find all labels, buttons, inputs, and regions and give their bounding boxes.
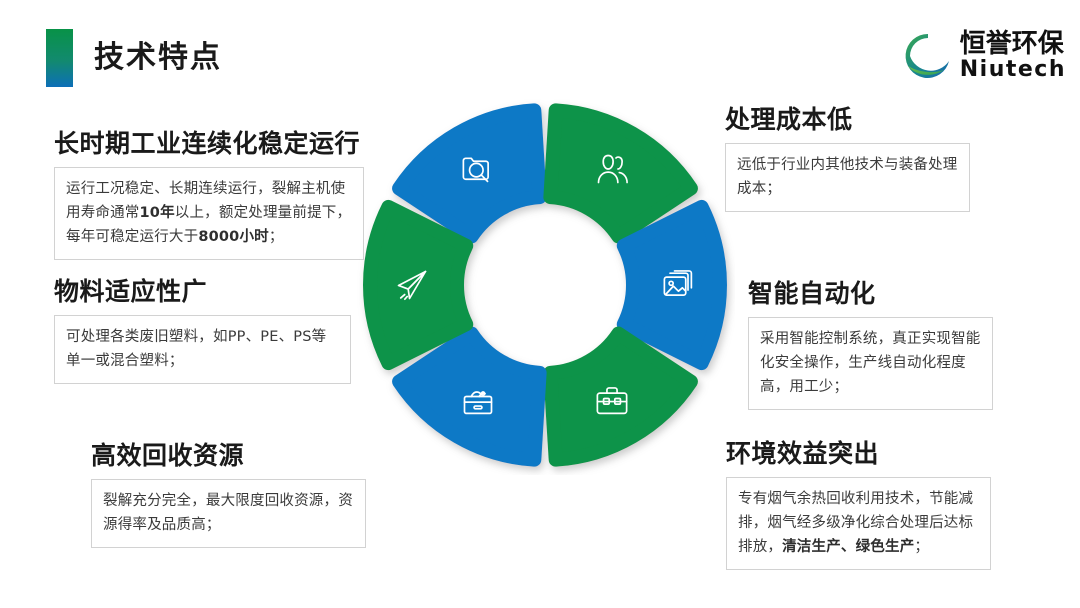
feature-low-processing-cost: 处理成本低 远低于行业内其他技术与装备处理成本； [725,104,970,212]
feature-body: 可处理各类废旧塑料，如PP、PE、PS等单一或混合塑料； [54,315,351,384]
feature-material-adaptability: 物料适应性广 可处理各类废旧塑料，如PP、PE、PS等单一或混合塑料； [54,276,351,384]
header-accent-gradient [46,29,73,87]
slide-canvas: 技术特点 恒誉环保 [0,0,1080,608]
header-accent-bar [46,29,73,87]
feature-title: 智能自动化 [748,278,993,310]
company-logo: 恒誉环保 Niutech [902,28,1066,84]
feature-title: 处理成本低 [725,104,970,136]
feature-title: 物料适应性广 [54,276,351,308]
feature-outstanding-environmental-benefit: 环境效益突出 专有烟气余热回收利用技术，节能减排，烟气经多级净化综合处理后达标排… [726,438,991,570]
feature-efficient-resource-recovery: 高效回收资源 裂解充分完全，最大限度回收资源，资源得率及品质高； [91,440,366,548]
feature-body: 裂解充分完全，最大限度回收资源，资源得率及品质高； [91,479,366,548]
feature-body: 远低于行业内其他技术与装备处理成本； [725,143,970,212]
feature-body: 采用智能控制系统，真正实现智能化安全操作，生产线自动化程度高，用工少； [748,317,993,410]
page-title: 技术特点 [94,38,222,78]
logo-name-cn: 恒誉环保 [960,31,1066,57]
feature-body: 专有烟气余热回收利用技术，节能减排，烟气经多级净化综合处理后达标排放，清洁生产、… [726,477,991,570]
feature-body: 运行工况稳定、长期连续运行，裂解主机使用寿命通常10年以上，额定处理量前提下，每… [54,167,364,260]
feature-long-term-stable-operation: 长时期工业连续化稳定运行 运行工况稳定、长期连续运行，裂解主机使用寿命通常10年… [54,128,364,260]
logo-name-en: Niutech [960,59,1066,81]
feature-title: 长时期工业连续化稳定运行 [54,128,364,160]
six-segment-donut-diagram [355,95,735,475]
donut-svg [355,95,735,475]
feature-title: 环境效益突出 [726,438,991,470]
niutech-ring-logo-icon [902,30,954,82]
logo-wordmark: 恒誉环保 Niutech [960,31,1066,81]
feature-intelligent-automation: 智能自动化 采用智能控制系统，真正实现智能化安全操作，生产线自动化程度高，用工少… [748,278,993,410]
feature-title: 高效回收资源 [91,440,366,472]
